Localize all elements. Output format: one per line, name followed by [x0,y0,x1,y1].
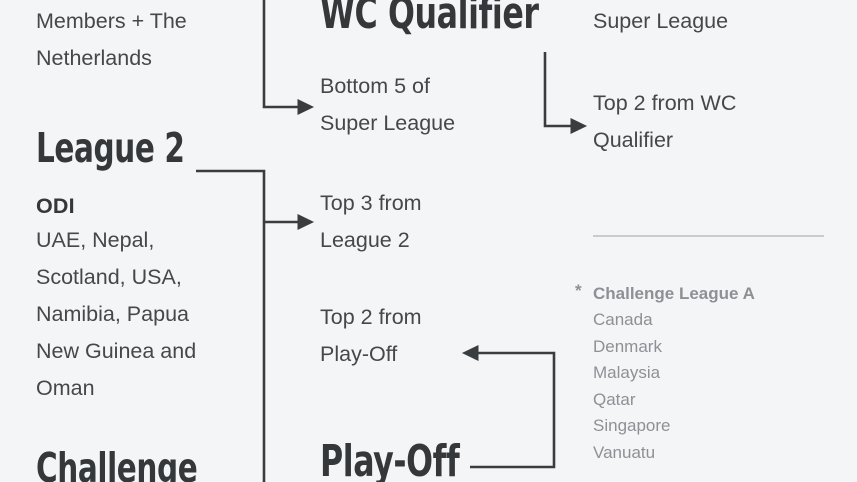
footnote-divider [593,235,824,237]
list-item: Malaysia [593,360,755,387]
list-item: Canada [593,307,755,334]
wc-qualifier-right-entry-text: Top 2 from WC Qualifier [593,85,843,159]
list-item: Singapore [593,413,755,440]
list-item: Denmark [593,334,755,361]
wc-qualifier-entry-text: Bottom 5 of Super League [320,68,560,142]
list-item: Qatar [593,387,755,414]
league-2-entry-text: Top 3 from League 2 [320,185,560,259]
footnote-block: * Challenge League A Canada Denmark Mala… [575,281,755,466]
wc-qualifier-heading: WC Qualifier [320,0,539,36]
list-item: Vanuatu [593,440,755,467]
league-2-heading: League 2 [36,128,184,169]
super-league-entry-text: Super League [593,3,843,40]
challenge-heading: Challenge [36,448,197,482]
footnote-title: Challenge League A [593,281,755,307]
footnote-team-list: Canada Denmark Malaysia Qatar Singapore … [593,307,755,466]
play-off-heading: Play-Off [320,440,459,482]
league-2-teams-list: UAE, Nepal, Scotland, USA, Namibia, Papu… [36,222,286,407]
playoff-entry-text: Top 2 from Play-Off [320,299,560,373]
infographic-canvas: Members + The Netherlands League 2 ODI U… [0,0,857,482]
members-netherlands-text: Members + The Netherlands [36,3,276,77]
footnote-asterisk-icon: * [575,281,593,301]
league-2-format-label: ODI [36,190,75,222]
